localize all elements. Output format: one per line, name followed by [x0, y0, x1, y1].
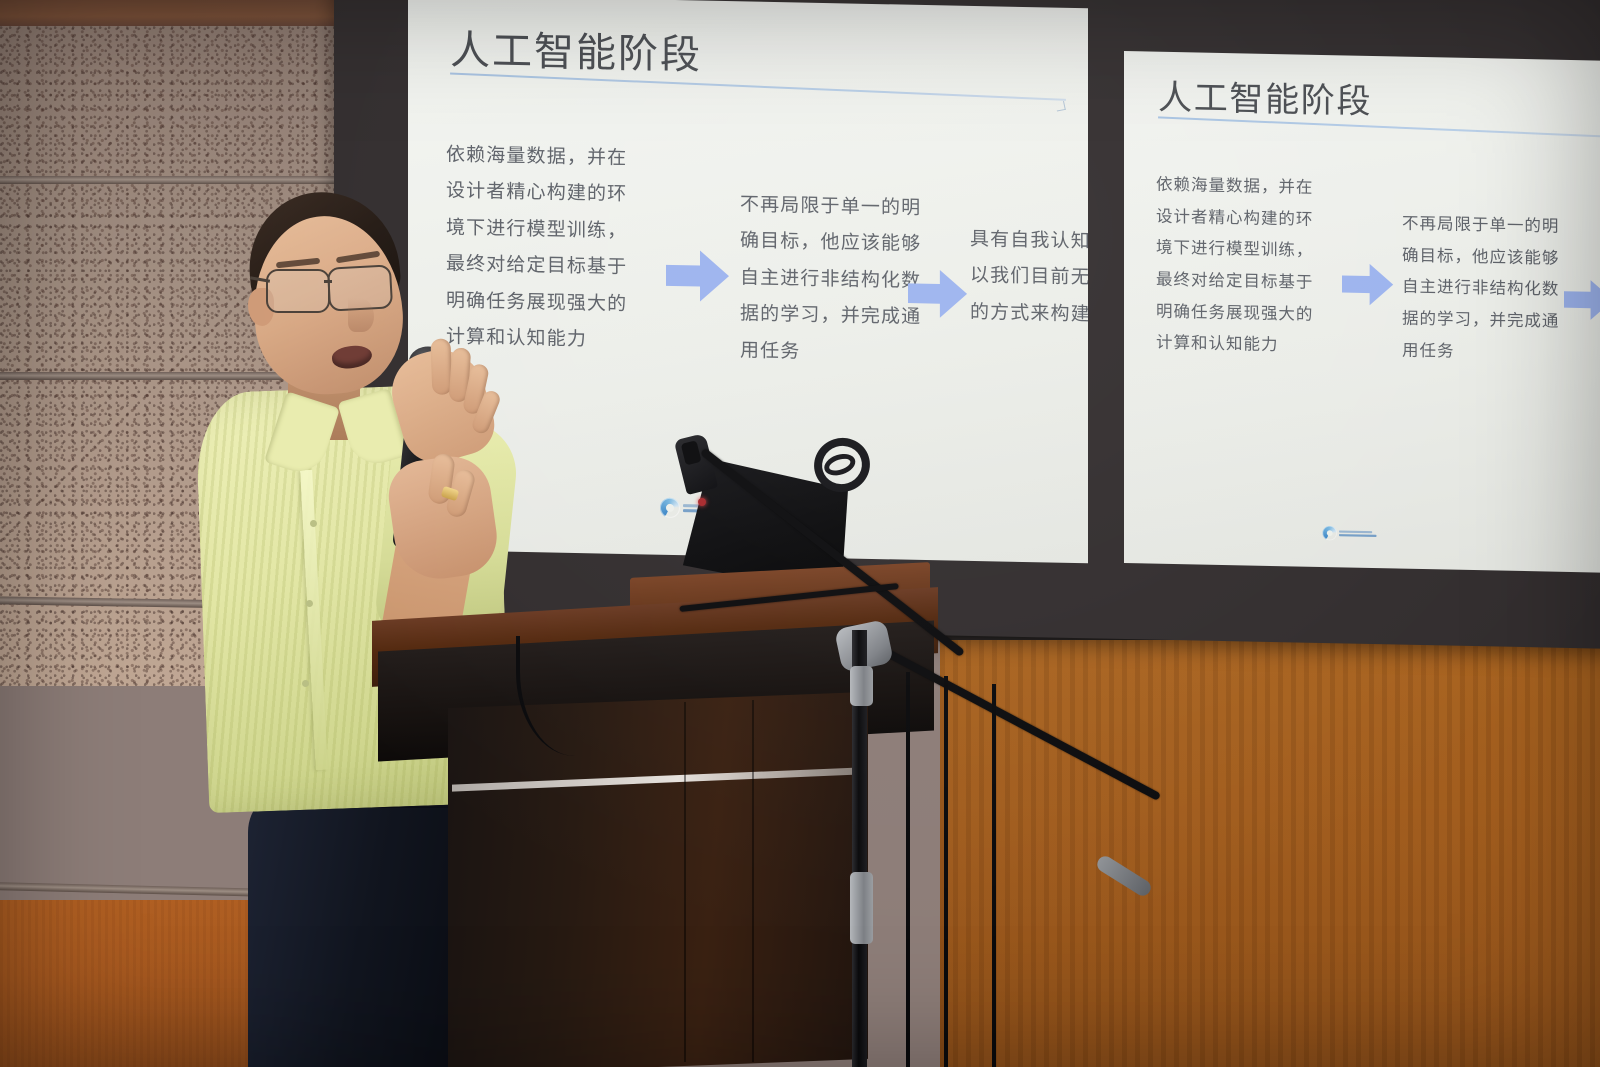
hanging-cable: [992, 684, 1026, 1067]
presenter-glasses: [266, 266, 402, 312]
flow-arrow-icon-1: [666, 248, 730, 305]
slide-column-one: 依赖海量数据，并在 设计者精心构建的环 境下进行模型训练， 最终对给定目标基于 …: [1156, 170, 1346, 364]
flow-arrow-icon-1: [1342, 261, 1394, 308]
lectern-panel-seam: [752, 700, 754, 1062]
glasses-lens-left: [266, 269, 330, 313]
flow-arrow-icon-2: [1564, 278, 1600, 323]
lectern-panel-seam: [684, 702, 686, 1062]
presenter-nose: [348, 298, 374, 332]
logo-wordmark: [1339, 530, 1376, 537]
lectern-body: [448, 692, 868, 1067]
slide-title-underline: [1158, 116, 1600, 138]
projected-slide-secondary: 人工智能阶段 依赖海量数据，并在 设计者精心构建的环 境下进行模型训练， 最终对…: [1124, 51, 1600, 573]
shirt-button: [310, 520, 317, 527]
slide-title: 人工智能阶段: [450, 17, 702, 80]
microphone-clip-left: [674, 433, 719, 495]
slide-title: 人工智能阶段: [1158, 70, 1372, 123]
circular-swirl-logo: [1323, 526, 1377, 541]
shirt-button: [302, 680, 309, 687]
laptop-led-icon: [698, 498, 706, 506]
wood-wainscot-right: [940, 640, 1600, 1067]
slide-corner-tick-icon: [1055, 101, 1066, 112]
swirl-icon: [1323, 526, 1337, 541]
flow-arrow-icon-2: [908, 267, 968, 322]
shirt-button: [306, 600, 313, 607]
presentation-photo-scene: 人工智能阶段 依赖海量数据，并在 设计者精心构建的环 境下进行模型训练， 最终对…: [0, 0, 1600, 1067]
mic-stand-height-collar[interactable]: [850, 872, 873, 944]
slide-title-underline: [450, 72, 1066, 100]
presenter-trousers: [248, 788, 480, 1067]
glasses-bridge: [324, 280, 332, 283]
mic-stand-collar[interactable]: [850, 666, 873, 706]
slide-secondary: 人工智能阶段 依赖海量数据，并在 设计者精心构建的环 境下进行模型训练， 最终对…: [1124, 51, 1600, 573]
slide-column-three: 具有自我认知的能力， 以我们目前无法理解 的方式来构建和运行: [970, 222, 1088, 336]
